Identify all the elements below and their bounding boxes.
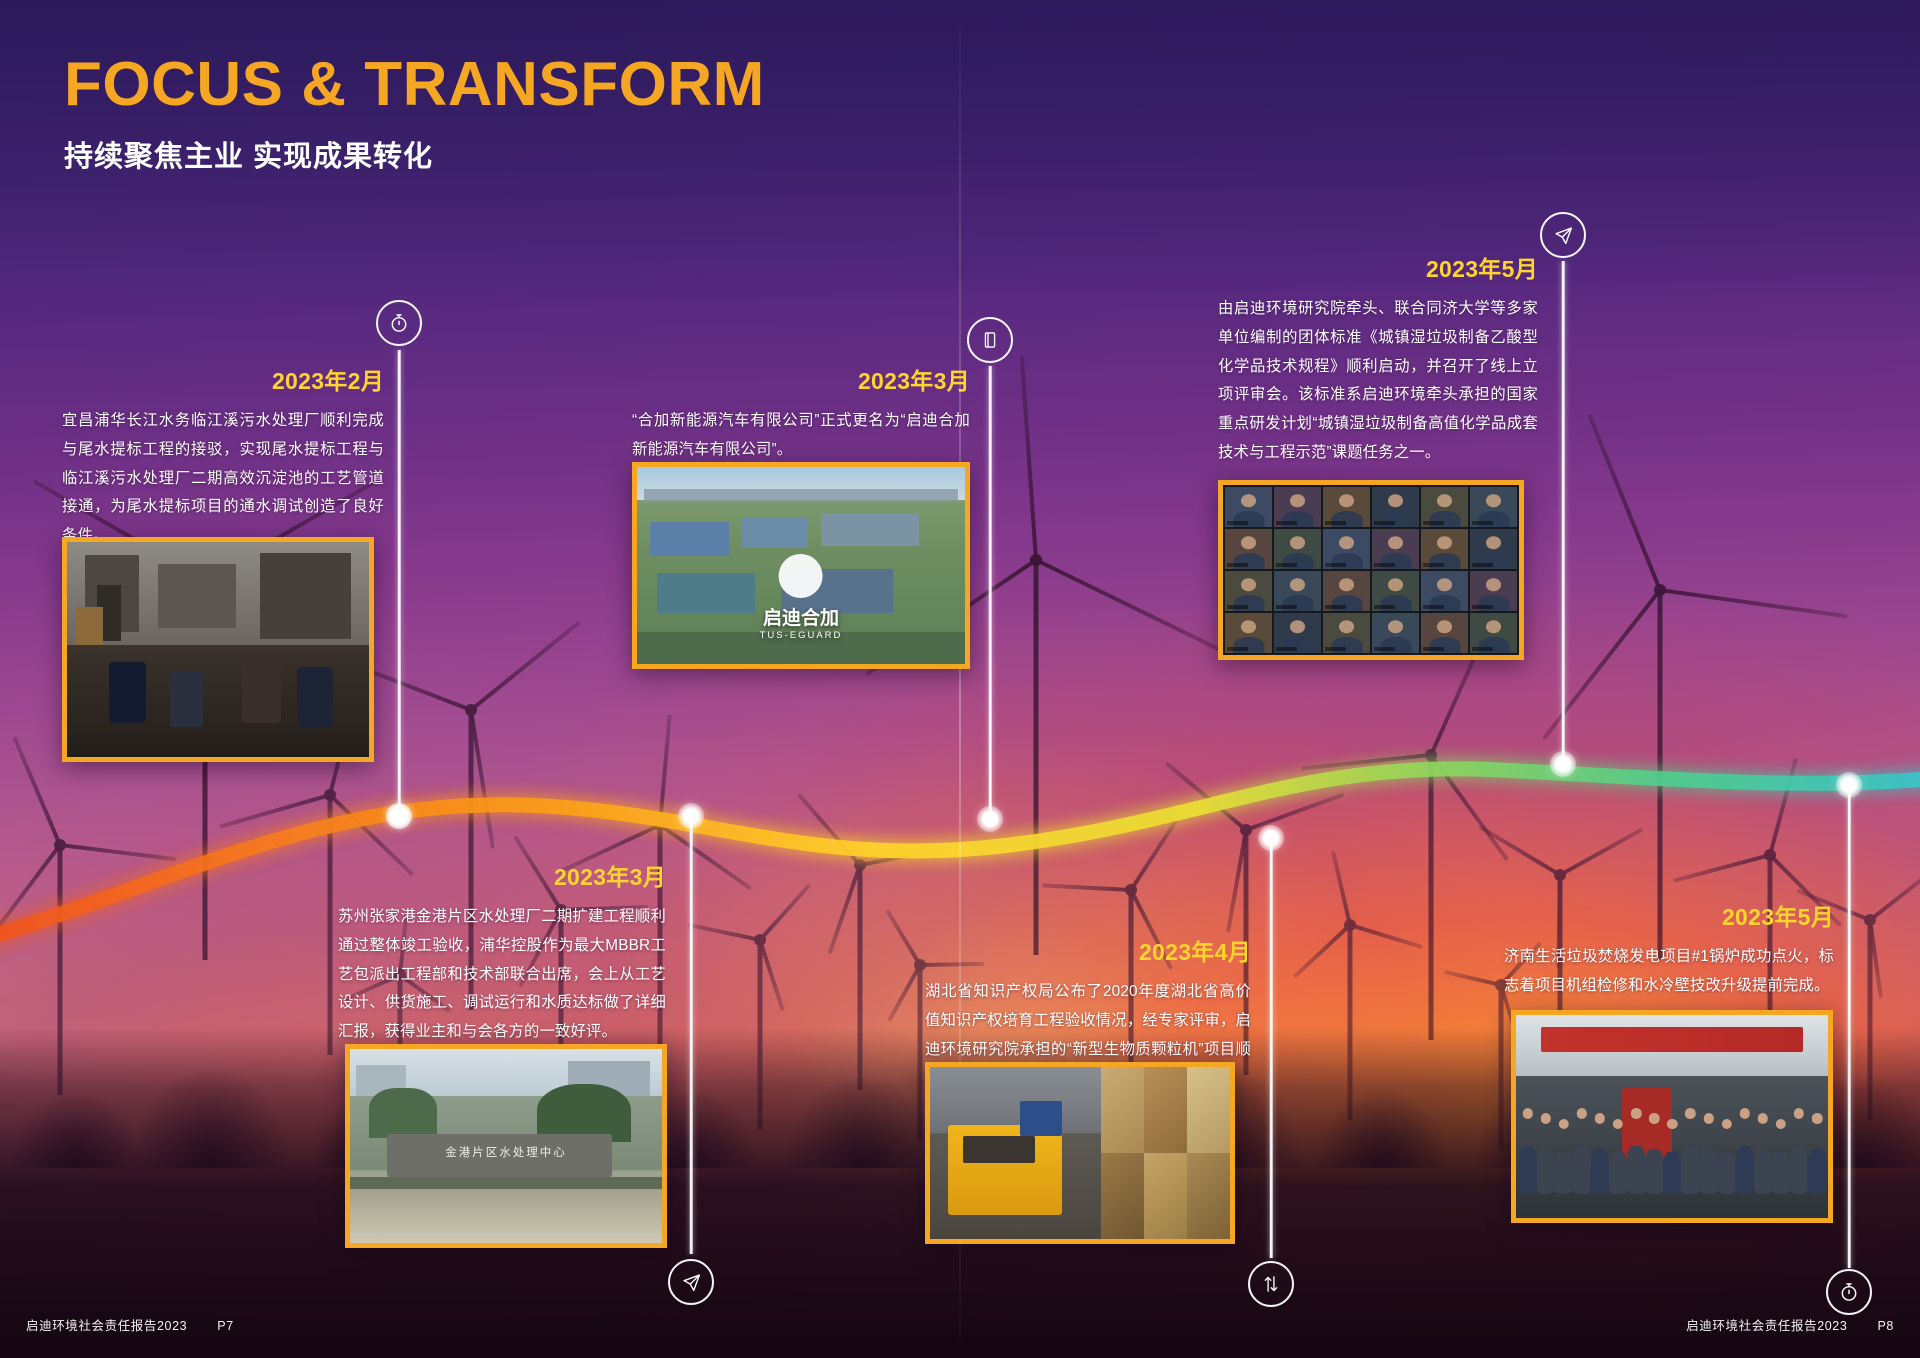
meeting-tile — [1421, 487, 1468, 527]
meeting-tile — [1274, 571, 1321, 611]
meeting-tile — [1372, 487, 1419, 527]
entry-month: 2023年3月 — [632, 362, 970, 396]
timeline-node — [386, 803, 412, 829]
person-silhouette — [1573, 1108, 1590, 1194]
timeline-node — [977, 806, 1003, 832]
entry-photo-mar-2023-zhangjiagang: 金港片区水处理中心 — [345, 1044, 667, 1248]
send-icon — [1540, 212, 1586, 258]
person-silhouette — [1628, 1108, 1645, 1194]
transfer-icon — [1248, 1261, 1294, 1307]
person-silhouette — [1682, 1108, 1699, 1194]
meeting-tile — [1225, 571, 1272, 611]
meeting-tile — [1323, 487, 1370, 527]
photo-brand-en: TUS-EGUARD — [760, 630, 843, 641]
footer-right-label: 启迪环境社会责任报告2023 — [1686, 1319, 1847, 1333]
stopwatch-icon — [1826, 1269, 1872, 1315]
title-english: FOCUS & TRANSFORM — [64, 52, 765, 117]
entry-text: 由启迪环境研究院牵头、联合同济大学等多家单位编制的团体标准《城镇湿垃圾制备乙酸型… — [1218, 295, 1538, 468]
timeline-node — [678, 803, 704, 829]
person-silhouette — [1610, 1119, 1627, 1194]
photo-brand-cn: 启迪合加 — [760, 603, 843, 630]
meeting-tile — [1470, 487, 1517, 527]
meeting-tile — [1372, 613, 1419, 653]
timeline-node — [1258, 825, 1284, 851]
meeting-tile — [1470, 529, 1517, 569]
meeting-tile — [1225, 613, 1272, 653]
entry-month: 2023年5月 — [1218, 250, 1538, 284]
person-silhouette — [1791, 1108, 1808, 1194]
meeting-tile — [1274, 529, 1321, 569]
person-silhouette — [1736, 1108, 1753, 1194]
page-title: FOCUS & TRANSFORM 持续聚焦主业 实现成果转化 — [64, 52, 765, 175]
entry-card-mar-2023-zhangjiagang: 2023年3月 苏州张家港金港片区水处理厂二期扩建工程顺利通过整体竣工验收，浦华… — [338, 858, 666, 1047]
footer-left-page: P7 — [217, 1319, 234, 1333]
entry-text: 宜昌浦华长江水务临江溪污水处理厂顺利完成与尾水提标工程的接驳，实现尾水提标工程与… — [62, 407, 384, 551]
meeting-tile — [1372, 571, 1419, 611]
entry-photo-mar-2023-hejia: 启迪合加 TUS-EGUARD — [632, 462, 970, 669]
person-silhouette — [1809, 1113, 1826, 1193]
entry-photo-apr-2023-hubei — [925, 1062, 1235, 1244]
entry-text: 苏州张家港金港片区水处理厂二期扩建工程顺利通过整体竣工验收，浦华控股作为最大MB… — [338, 903, 666, 1047]
meeting-tile — [1225, 487, 1272, 527]
entry-month: 2023年3月 — [338, 858, 666, 892]
meeting-tile — [1470, 571, 1517, 611]
person-silhouette — [1519, 1108, 1536, 1194]
footer-right: 启迪环境社会责任报告2023 P8 — [1686, 1315, 1894, 1334]
timeline-stem — [1270, 838, 1273, 1258]
timeline-node — [1836, 772, 1862, 798]
meeting-tile — [1274, 487, 1321, 527]
entry-text: 济南生活垃圾焚烧发电项目#1锅炉成功点火，标志着项目机组检修和水冷壁技改升级提前… — [1504, 943, 1834, 1001]
meeting-tile — [1323, 529, 1370, 569]
title-chinese: 持续聚焦主业 实现成果转化 — [64, 133, 765, 175]
footer-right-page: P8 — [1878, 1319, 1895, 1333]
send-icon — [668, 1259, 714, 1305]
meeting-tile — [1323, 613, 1370, 653]
timeline-stem — [989, 366, 992, 819]
meeting-tile — [1421, 613, 1468, 653]
meeting-tile — [1470, 613, 1517, 653]
entry-photo-may-2023-jinan — [1511, 1010, 1833, 1223]
entry-card-may-2023-standard: 2023年5月 由启迪环境研究院牵头、联合同济大学等多家单位编制的团体标准《城镇… — [1218, 250, 1538, 468]
timeline-stem — [398, 350, 401, 816]
stopwatch-icon — [376, 300, 422, 346]
entry-month: 2023年2月 — [62, 362, 384, 396]
entry-month: 2023年5月 — [1504, 898, 1834, 932]
photo-sign-text: 金港片区水处理中心 — [445, 1144, 567, 1160]
person-silhouette — [1592, 1113, 1609, 1193]
entry-card-feb-2023-yichang: 2023年2月 宜昌浦华长江水务临江溪污水处理厂顺利完成与尾水提标工程的接驳，实… — [62, 362, 384, 551]
timeline-stem — [1562, 261, 1565, 764]
meeting-tile — [1421, 571, 1468, 611]
person-silhouette — [1555, 1119, 1572, 1194]
entry-card-mar-2023-hejia: 2023年3月 “合加新能源汽车有限公司”正式更名为“启迪合加新能源汽车有限公司… — [632, 362, 970, 465]
person-silhouette — [1754, 1113, 1771, 1193]
entry-photo-may-2023-standard — [1218, 480, 1524, 660]
person-silhouette — [1700, 1113, 1717, 1193]
entry-photo-feb-2023-yichang — [62, 537, 374, 762]
entry-month: 2023年4月 — [925, 933, 1251, 967]
meeting-tile — [1274, 613, 1321, 653]
person-silhouette — [1664, 1119, 1681, 1194]
person-silhouette — [1537, 1113, 1554, 1193]
meeting-tile — [1323, 571, 1370, 611]
timeline-stem — [690, 816, 693, 1254]
book-icon — [967, 317, 1013, 363]
entry-card-may-2023-jinan: 2023年5月 济南生活垃圾焚烧发电项目#1锅炉成功点火，标志着项目机组检修和水… — [1504, 898, 1834, 1001]
person-silhouette — [1646, 1113, 1663, 1193]
timeline-node — [1550, 751, 1576, 777]
footer-left-label: 启迪环境社会责任报告2023 — [26, 1319, 187, 1333]
person-silhouette — [1718, 1119, 1735, 1194]
meeting-tile — [1421, 529, 1468, 569]
person-silhouette — [1772, 1119, 1789, 1194]
footer-left: 启迪环境社会责任报告2023 P7 — [26, 1315, 234, 1334]
meeting-tile — [1372, 529, 1419, 569]
meeting-tile — [1225, 529, 1272, 569]
timeline-stem — [1848, 785, 1851, 1268]
entry-text: “合加新能源汽车有限公司”正式更名为“启迪合加新能源汽车有限公司”。 — [632, 407, 970, 465]
